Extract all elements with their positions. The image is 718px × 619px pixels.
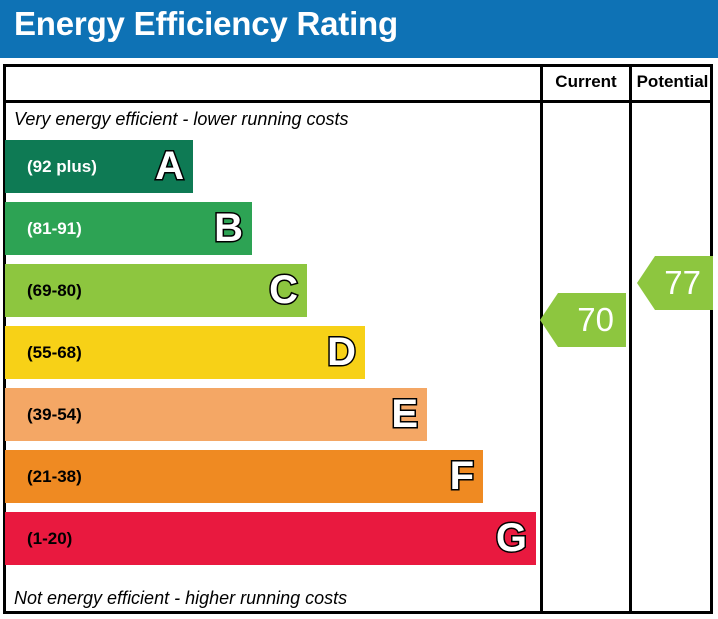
chart-title-bar: Energy Efficiency Rating (0, 0, 718, 58)
band-g-range: (1-20) (27, 529, 72, 549)
band-f-letter: F (450, 456, 474, 496)
band-d-range: (55-68) (27, 343, 82, 363)
band-f-range: (21-38) (27, 467, 82, 487)
potential-rating-value: 77 (664, 266, 701, 299)
band-c-letter: C (269, 270, 298, 310)
band-b: (81-91) B (5, 202, 252, 255)
band-g: (1-20) G (5, 512, 536, 565)
header-row-divider (3, 100, 713, 103)
band-f: (21-38) F (5, 450, 483, 503)
caption-very-efficient: Very energy efficient - lower running co… (14, 109, 349, 130)
current-rating-value: 70 (577, 303, 614, 336)
band-a-range: (92 plus) (27, 157, 97, 177)
potential-column-divider (629, 64, 632, 614)
band-a: (92 plus) A (5, 140, 193, 193)
band-d: (55-68) D (5, 326, 365, 379)
band-a-letter: A (155, 146, 184, 186)
column-header-potential: Potential (632, 72, 713, 92)
page-title: Energy Efficiency Rating (14, 5, 398, 43)
band-c: (69-80) C (5, 264, 307, 317)
band-g-letter: G (496, 518, 527, 558)
band-b-range: (81-91) (27, 219, 82, 239)
band-e-letter: E (391, 394, 418, 434)
current-rating-arrow: 70 (540, 293, 626, 347)
column-header-current: Current (543, 72, 629, 92)
band-e: (39-54) E (5, 388, 427, 441)
band-c-range: (69-80) (27, 281, 82, 301)
band-b-letter: B (214, 208, 243, 248)
caption-not-efficient: Not energy efficient - higher running co… (14, 588, 347, 609)
band-e-range: (39-54) (27, 405, 82, 425)
current-column-divider (540, 64, 543, 614)
energy-efficiency-rating-chart: Energy Efficiency Rating Current Potenti… (0, 0, 718, 619)
band-d-letter: D (327, 332, 356, 372)
